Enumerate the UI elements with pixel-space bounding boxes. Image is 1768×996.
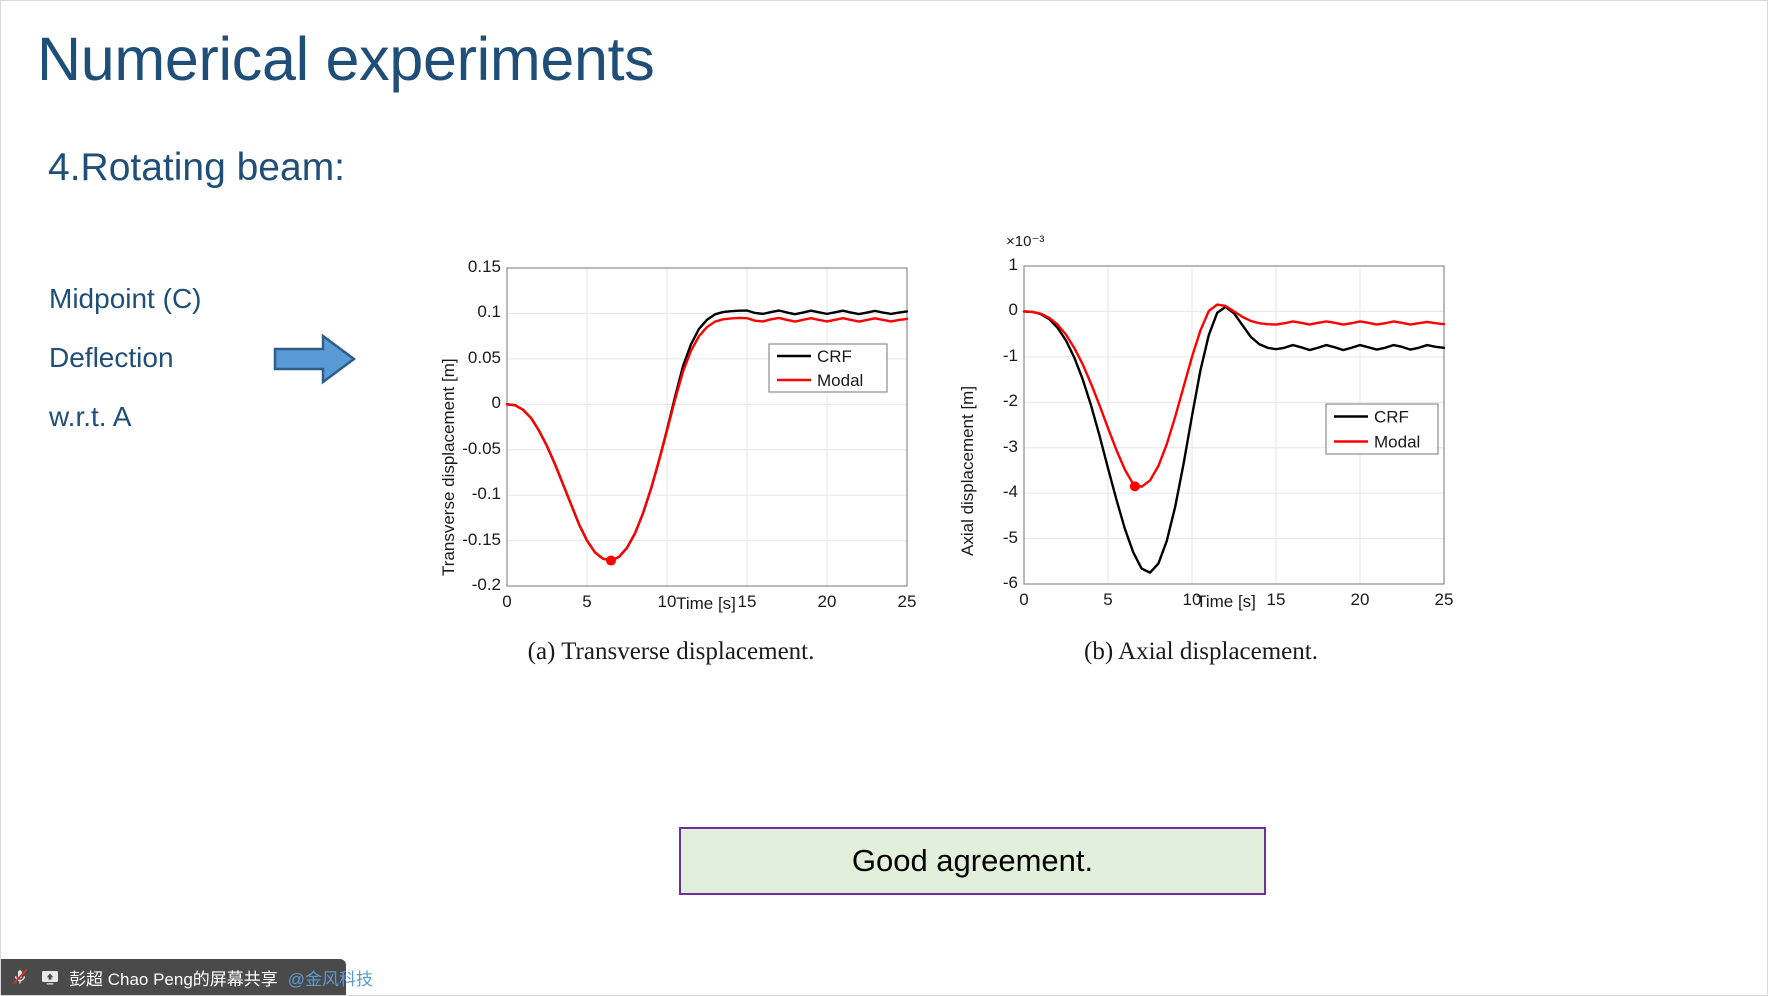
figure-axial-displacement: ×10⁻³ Axial displacement [m] 10-1-2-3-4-… xyxy=(946,226,1456,626)
description-line-1: Midpoint (C) xyxy=(49,284,299,315)
page-title: Numerical experiments xyxy=(37,27,654,91)
figure-a-caption: (a) Transverse displacement. xyxy=(421,638,921,666)
y-tick-label: -0.1 xyxy=(449,484,501,504)
figure-transverse-displacement: Transverse displacement [m] 0.150.10.050… xyxy=(421,226,921,626)
chart-b-plot-area: CRFModal xyxy=(946,226,1456,626)
share-status-text: 彭超 Chao Peng的屏幕共享 xyxy=(69,965,278,990)
y-tick-label: 1 xyxy=(966,255,1018,275)
svg-text:Modal: Modal xyxy=(817,371,863,390)
chart-a-plot-area: CRFModal xyxy=(421,226,921,626)
screen-share-taskbar[interactable]: 彭超 Chao Peng的屏幕共享 @金风科技 xyxy=(1,959,346,995)
description-line-3: w.r.t. A xyxy=(49,402,299,433)
svg-text:Modal: Modal xyxy=(1374,433,1420,452)
figure-b-caption: (b) Axial displacement. xyxy=(946,638,1456,666)
share-organization-text: @金风科技 xyxy=(288,965,373,990)
section-subtitle: 4.Rotating beam: xyxy=(48,146,345,190)
y-tick-label: -1 xyxy=(966,346,1018,366)
y-tick-label: 0.05 xyxy=(449,348,501,368)
chart-b-x-axis-label: Time [s] xyxy=(1026,592,1426,612)
y-tick-label: 0.1 xyxy=(449,302,501,322)
conclusion-box: Good agreement. xyxy=(679,827,1266,895)
right-arrow-icon xyxy=(273,331,357,387)
screen-share-icon[interactable] xyxy=(39,966,61,988)
y-tick-label: 0 xyxy=(449,393,501,413)
y-tick-label: -4 xyxy=(966,482,1018,502)
x-tick-label: 25 xyxy=(1419,590,1469,610)
chart-a-x-axis-label: Time [s] xyxy=(506,594,906,614)
presentation-slide: Numerical experiments 4.Rotating beam: M… xyxy=(0,0,1768,996)
y-tick-label: -2 xyxy=(966,391,1018,411)
microphone-muted-icon[interactable] xyxy=(9,966,31,988)
description-column: Midpoint (C) Deflection w.r.t. A xyxy=(49,284,299,460)
y-tick-label: 0.15 xyxy=(449,257,501,277)
svg-text:CRF: CRF xyxy=(1374,408,1409,427)
description-line-2: Deflection xyxy=(49,343,299,374)
y-tick-label: -3 xyxy=(966,437,1018,457)
svg-text:CRF: CRF xyxy=(817,347,852,366)
chart-b-exponent-label: ×10⁻³ xyxy=(1006,232,1044,250)
y-tick-label: -5 xyxy=(966,528,1018,548)
conclusion-text: Good agreement. xyxy=(852,843,1093,879)
y-tick-label: -0.05 xyxy=(449,439,501,459)
figure-group: Transverse displacement [m] 0.150.10.050… xyxy=(421,226,1481,696)
y-tick-label: 0 xyxy=(966,300,1018,320)
y-tick-label: -0.15 xyxy=(449,530,501,550)
